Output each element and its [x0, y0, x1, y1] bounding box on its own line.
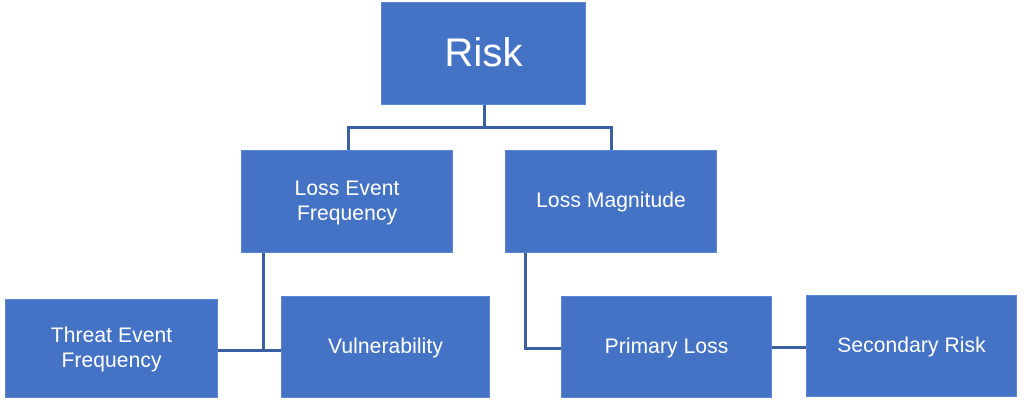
- connector-threat-event-frequency-to-vulnerability: [218, 349, 282, 352]
- node-loss-event-frequency-label: Loss Event Frequency: [295, 177, 400, 226]
- connector-bus-to-loss-event-frequency: [347, 126, 350, 151]
- connector-bus-to-loss-magnitude: [610, 126, 613, 151]
- node-loss-magnitude-label: Loss Magnitude: [536, 189, 686, 213]
- node-secondary-risk-label: Secondary Risk: [837, 334, 985, 358]
- node-primary-loss[interactable]: Primary Loss: [561, 296, 772, 398]
- node-secondary-risk[interactable]: Secondary Risk: [806, 295, 1017, 397]
- node-vulnerability[interactable]: Vulnerability: [281, 296, 490, 398]
- connector-horizontal-bus: [347, 126, 613, 129]
- connector-loss-magnitude-to-primary-loss: [524, 347, 562, 350]
- node-risk-label: Risk: [444, 30, 522, 76]
- node-risk[interactable]: Risk: [381, 2, 586, 105]
- node-vulnerability-label: Vulnerability: [328, 335, 443, 359]
- node-loss-magnitude[interactable]: Loss Magnitude: [505, 150, 717, 253]
- connector-loss-magnitude-drop: [524, 253, 527, 350]
- node-primary-loss-label: Primary Loss: [605, 335, 729, 359]
- connector-primary-loss-to-secondary-risk: [772, 346, 807, 349]
- node-loss-event-frequency[interactable]: Loss Event Frequency: [241, 150, 453, 253]
- connector-loss-event-frequency-drop: [262, 253, 265, 352]
- node-threat-event-frequency-label: Threat Event Frequency: [51, 324, 172, 373]
- risk-taxonomy-diagram: Risk Loss Event Frequency Loss Magnitude…: [0, 0, 1024, 407]
- node-threat-event-frequency[interactable]: Threat Event Frequency: [5, 299, 218, 398]
